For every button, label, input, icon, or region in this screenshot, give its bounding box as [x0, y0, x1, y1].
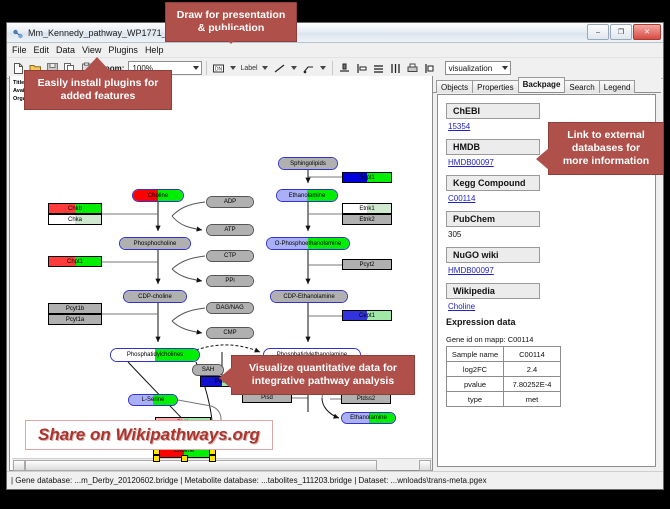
pathway-node-pcyt1a[interactable]: Pcyt1a: [48, 314, 102, 325]
table-row: log2FC 2.4: [447, 362, 561, 377]
cell-value: 2.4: [504, 362, 561, 377]
pathway-node-l-serine-left[interactable]: L-Serine: [128, 394, 178, 406]
pathway-node-cept1[interactable]: Cept1: [342, 310, 392, 321]
tab-backpage[interactable]: Backpage: [518, 77, 566, 92]
gene-id-label: Gene id on mapp: C00114: [446, 335, 655, 344]
pathway-connections: [10, 76, 432, 470]
db-header-chebi: ChEBI: [446, 103, 540, 119]
chevron-down-icon: [193, 66, 199, 70]
maximize-button[interactable]: ❐: [610, 24, 632, 40]
scroll-left-arrow[interactable]: [13, 460, 25, 471]
align-left-icon[interactable]: [354, 61, 369, 76]
pathway-node-sphingolipids[interactable]: Sphingolipids: [278, 157, 338, 170]
node-label: L-Serine: [142, 397, 165, 403]
pathway-node-ethanolamine-bottom[interactable]: Ethanolamine: [341, 412, 396, 424]
node-label: Sphingolipids: [290, 161, 326, 167]
cell-key: log2FC: [447, 362, 504, 377]
window-controls: – ❐ ✕: [587, 24, 661, 40]
menu-item-help[interactable]: Help: [145, 45, 164, 55]
pathway-canvas-panel[interactable]: Title: Availa Organi: [9, 76, 433, 471]
share-banner-text: Share on Wikipathways.org: [38, 425, 260, 444]
callout-plugins: Easily install plugins foradded features: [24, 70, 172, 110]
pathway-node-cmp[interactable]: CMP: [206, 327, 254, 339]
node-label: Pcyt2: [359, 262, 374, 268]
menu-bar: File Edit Data View Plugins Help: [7, 43, 663, 58]
node-label: Phosphatidylcholines: [127, 352, 183, 358]
canvas-horizontal-scrollbar[interactable]: [12, 458, 432, 470]
minimize-button[interactable]: –: [587, 24, 609, 40]
pathway-node-cdp-choline[interactable]: CDP-choline: [123, 290, 187, 303]
db-header-hmdb: HMDB: [446, 139, 540, 155]
scroll-right-arrow[interactable]: [419, 460, 431, 471]
callout-plugins-arrow-icon: [84, 57, 110, 71]
table-row: pvalue 7.80252E-4: [447, 377, 561, 392]
line-tool-icon[interactable]: [272, 61, 287, 76]
cell-key: type: [447, 392, 504, 407]
node-label: DAG/NAG: [216, 305, 244, 311]
node-label: Sgpl1: [359, 175, 374, 181]
node-label: Pcyt1a: [66, 317, 84, 323]
menu-item-plugins[interactable]: Plugins: [108, 45, 138, 55]
selection-handle[interactable]: [153, 455, 160, 462]
pathway-node-dag-nag[interactable]: DAG/NAG: [206, 302, 254, 314]
tab-objects[interactable]: Objects: [436, 80, 473, 93]
chevron-down-icon[interactable]: [291, 66, 297, 70]
svg-text:DN: DN: [215, 66, 223, 72]
menu-item-view[interactable]: View: [82, 45, 101, 55]
pathway-node-ethanolamine-top[interactable]: Ethanolamine: [276, 189, 338, 202]
node-label: PPi: [225, 278, 234, 284]
pathway-canvas[interactable]: Title: Availa Organi: [10, 76, 432, 470]
pathway-node-chkb[interactable]: Chkb: [48, 203, 102, 214]
cell-value: met: [504, 392, 561, 407]
node-label: ATP: [224, 227, 235, 233]
node-label: CTP: [224, 253, 236, 259]
label-tool-text[interactable]: Label: [240, 65, 257, 72]
db-header-nugo: NuGO wiki: [446, 247, 540, 263]
node-label: ADP: [224, 199, 236, 205]
node-label: Chkb: [68, 206, 82, 212]
pathway-node-pcyt1b[interactable]: Pcyt1b: [48, 303, 102, 314]
node-label: Ethanolamine: [350, 415, 387, 421]
title-bar: Mm_Kennedy_pathway_WP1771_45176.gpml – ❐…: [7, 23, 663, 43]
tab-properties[interactable]: Properties: [472, 80, 518, 93]
node-label: Ethanolamine: [289, 193, 326, 199]
toolbar-separator: [206, 61, 207, 75]
node-label: Chpt1: [67, 259, 83, 265]
screenshot-root: Mm_Kennedy_pathway_WP1771_45176.gpml – ❐…: [0, 0, 670, 509]
status-bar: | Gene database: ...m_Derby_20120602.bri…: [7, 471, 663, 489]
expression-data-heading: Expression data: [446, 317, 655, 327]
chevron-down-icon[interactable]: [230, 66, 236, 70]
node-label: CDP-choline: [138, 294, 172, 300]
node-label: O-Phosphoethanolamine: [275, 241, 341, 247]
callout-links: Link to externaldatabases formore inform…: [548, 122, 664, 175]
interaction-tool-icon[interactable]: [301, 61, 316, 76]
cell-value: C00114: [504, 347, 561, 362]
tab-search[interactable]: Search: [564, 80, 599, 93]
close-button[interactable]: ✕: [633, 24, 661, 40]
pathway-node-etnk2[interactable]: Etnk2: [342, 214, 392, 225]
node-label: SAH: [202, 367, 214, 373]
visualization-combo[interactable]: visualization: [445, 61, 511, 75]
chevron-down-icon[interactable]: [262, 66, 268, 70]
db-link-nugo[interactable]: HMDB00097: [448, 266, 655, 275]
pathway-node-choline-top[interactable]: Choline: [132, 189, 184, 202]
menu-item-data[interactable]: Data: [56, 45, 75, 55]
db-value-pubchem: 305: [448, 230, 655, 239]
pathway-node-etnk1[interactable]: Etnk1: [342, 203, 392, 214]
legend-icon[interactable]: [422, 61, 437, 76]
node-label: Chka: [68, 217, 82, 223]
pathway-node-o-phosphoethanolamine[interactable]: O-Phosphoethanolamine: [266, 237, 350, 250]
share-banner: Share on Wikipathways.org: [25, 420, 273, 450]
node-label: Choline: [148, 193, 168, 199]
print-icon[interactable]: [405, 61, 420, 76]
db-link-kegg[interactable]: C00114: [448, 194, 655, 203]
distribute-icon[interactable]: [388, 61, 403, 76]
db-link-wikipedia[interactable]: Choline: [448, 302, 655, 311]
status-text: | Gene database: ...m_Derby_20120602.bri…: [7, 476, 487, 485]
node-label: Ptdss2: [357, 396, 375, 402]
chevron-down-icon: [502, 66, 508, 70]
menu-item-file[interactable]: File: [12, 45, 27, 55]
selection-handle[interactable]: [209, 455, 216, 462]
pathway-node-chpt1[interactable]: Chpt1: [48, 256, 102, 267]
align-top-icon[interactable]: [337, 61, 352, 76]
callout-links-arrow-icon: [536, 148, 549, 170]
pathway-node-pcyt2[interactable]: Pcyt2: [342, 259, 392, 270]
pathvisio-icon: [12, 27, 24, 39]
node-label: Pcyt1b: [66, 306, 84, 312]
expression-table: Sample name C00114 log2FC 2.4 pvalue 7.8…: [446, 346, 561, 407]
toolbar-separator: [332, 61, 333, 75]
side-panel-tabs: Objects Properties Backpage Search Legen…: [433, 76, 661, 93]
db-header-kegg: Kegg Compound: [446, 175, 540, 191]
node-label: Pisd: [261, 395, 273, 401]
pathway-node-phosphatidylcholines[interactable]: Phosphatidylcholines: [110, 348, 200, 362]
callout-draw-arrow-icon: [218, 30, 244, 44]
stack-icon[interactable]: [371, 61, 386, 76]
pathway-node-adp[interactable]: ADP: [206, 196, 254, 208]
pathway-node-sgpl1[interactable]: Sgpl1: [342, 172, 392, 183]
db-header-wikipedia: Wikipedia: [446, 283, 540, 299]
tab-legend[interactable]: Legend: [599, 80, 636, 93]
pathway-node-atp[interactable]: ATP: [206, 224, 254, 236]
callout-visualize: Visualize quantitative data forintegrati…: [231, 355, 415, 395]
chevron-down-icon[interactable]: [320, 66, 326, 70]
db-header-pubchem: PubChem: [446, 211, 540, 227]
cell-key: pvalue: [447, 377, 504, 392]
table-row: type met: [447, 392, 561, 407]
node-label: Etnk2: [359, 217, 374, 223]
visualization-value: visualization: [449, 64, 493, 73]
pathway-node-ppi[interactable]: PPi: [206, 275, 254, 287]
menu-item-edit[interactable]: Edit: [34, 45, 50, 55]
cell-value: 7.80252E-4: [504, 377, 561, 392]
cell-key: Sample name: [447, 347, 504, 362]
datanode-icon[interactable]: DN: [211, 61, 226, 76]
selection-handle[interactable]: [181, 455, 188, 462]
pathway-node-cdp-ethanolamine[interactable]: CDP-Ethanolamine: [270, 290, 348, 303]
pathway-node-chka[interactable]: Chka: [48, 214, 102, 225]
scroll-thumb[interactable]: [25, 460, 377, 471]
node-label: Cept1: [359, 313, 375, 319]
pathway-node-phosphocholine[interactable]: Phosphocholine: [119, 237, 191, 250]
node-label: CDP-Ethanolamine: [283, 294, 334, 300]
node-label: Etnk1: [359, 206, 374, 212]
callout-visualize-arrow-icon: [219, 367, 232, 389]
node-label: CMP: [223, 330, 236, 336]
node-label: Phosphocholine: [134, 241, 177, 247]
table-row: Sample name C00114: [447, 347, 561, 362]
pathway-node-ctp[interactable]: CTP: [206, 250, 254, 262]
